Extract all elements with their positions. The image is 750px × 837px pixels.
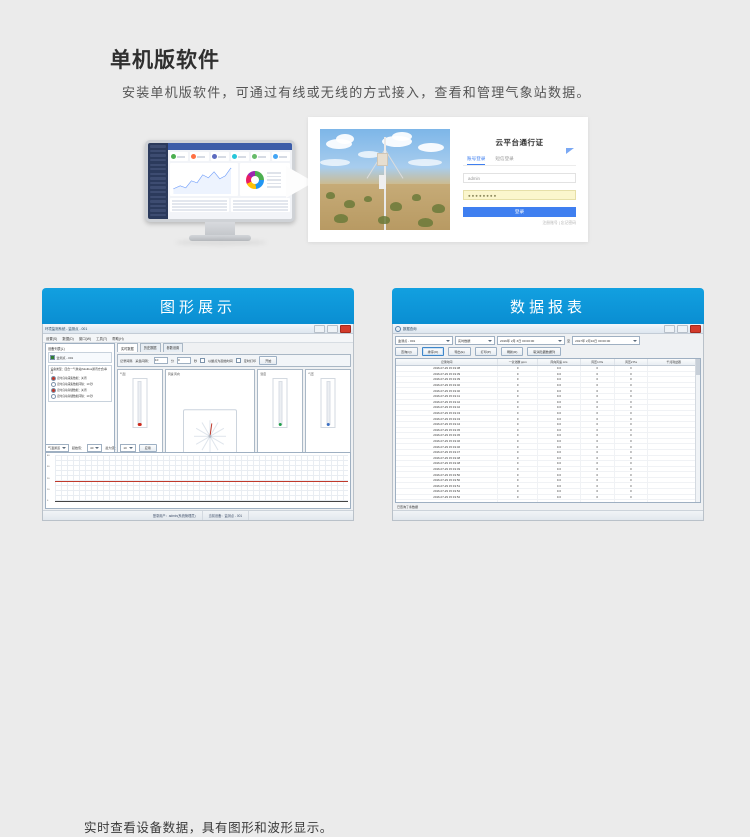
chevron-down-icon [488, 340, 492, 342]
table-cell: 0 [581, 467, 615, 472]
table-cell: 0 [581, 483, 615, 488]
spinner-icon [633, 340, 637, 342]
table-cell: 0 [615, 439, 649, 444]
table-cell [648, 467, 700, 472]
table-cell: 0 [498, 489, 538, 494]
print-button[interactable]: 打印(P) [475, 347, 497, 356]
table-cell: 0 [615, 366, 649, 371]
spinner-icon [558, 340, 562, 342]
monitor-bezel [145, 140, 295, 222]
search-icon [395, 326, 401, 332]
table-cell [648, 388, 700, 393]
waveform-series [55, 481, 348, 482]
monitor-shadow [175, 240, 267, 245]
statusbar: 登录用户：admin(系统管理员) 当前设备：监测点 - 001 [43, 510, 353, 520]
table-cell: 0 [581, 500, 615, 503]
table-cell: 2016-07-29 15:19:40 [396, 388, 498, 393]
station-select[interactable]: 监测点 - 001 [395, 336, 453, 345]
unhide-columns-button[interactable]: 取消隐藏数据列 [527, 347, 561, 356]
table-cell: 0 [615, 478, 649, 483]
menu-item-window[interactable]: 窗口(W) [79, 336, 91, 341]
window-title: 数据查询 [403, 326, 662, 331]
table-cell [648, 366, 700, 371]
table-cell [648, 439, 700, 444]
table-cell: 0 [615, 500, 649, 503]
table-cell: 0.0 [538, 439, 581, 444]
table-cell [648, 478, 700, 483]
table-cell: 0 [581, 383, 615, 388]
page-subtitle: 安装单机版软件，可通过有线或无线的方式接入，查看和管理气象站数据。 [122, 82, 591, 101]
table-cell: 2016-07-29 15:19:48 [396, 461, 498, 466]
sort-button[interactable]: 排序(O) [422, 347, 445, 356]
table-cell: 0 [581, 489, 615, 494]
table-cell [648, 444, 700, 449]
report-footer: 已查询了条数据 [395, 505, 701, 509]
table-cell: 0 [498, 444, 538, 449]
checkbox-icon[interactable] [200, 358, 205, 363]
table-cell: 0 [581, 461, 615, 466]
login-form: 云平台通行证 账号登录 短信登录 admin ●●●●●●●● 登录 注册账号 … [463, 131, 576, 228]
table-cell: 0 [498, 467, 538, 472]
table-cell: 0 [615, 461, 649, 466]
table-cell [648, 461, 700, 466]
chevron-down-icon [129, 447, 133, 449]
table-widget [231, 198, 290, 212]
option-label: 定时自动采集数据：关闭 [57, 376, 87, 380]
table-cell: 2016-07-29 15:19:43 [396, 411, 498, 416]
table-cell: 0.0 [538, 388, 581, 393]
waveform-grid [55, 455, 348, 502]
table-cell: 0 [615, 405, 649, 410]
date-joiner: 至 [567, 338, 570, 343]
sensor-box [377, 153, 388, 166]
start-value: 40 [90, 446, 93, 450]
table-cell: 0 [615, 411, 649, 416]
table-cell [648, 428, 700, 433]
table-cell [648, 416, 700, 421]
window-titlebar: 数据查询 [393, 324, 703, 334]
table-cell [648, 372, 700, 377]
option-label: 定时自动采集数据间隔：10 秒 [57, 382, 93, 386]
table-cell: 0 [615, 388, 649, 393]
table-cell: 0 [498, 411, 538, 416]
option-label: 定时自动存储数据间隔：10 秒 [57, 394, 93, 398]
gauge-label: 气压 [308, 372, 348, 376]
dashboard-bottom-row [170, 198, 290, 212]
table-cell: 0 [615, 467, 649, 472]
radio-icon [51, 382, 56, 387]
table-cell: 0 [581, 439, 615, 444]
monitor-screen [148, 143, 292, 219]
page-root: 单机版软件 安装单机版软件，可通过有线或无线的方式接入，查看和管理气象站数据。 [0, 0, 750, 572]
table-cell: 0 [498, 478, 538, 483]
table-cell: 0 [615, 377, 649, 382]
wave-controls: 气温通道 起始值： 40 最大值： 10 应用 [45, 444, 351, 452]
datatype-select[interactable]: 实时数据 [455, 336, 495, 345]
table-cell [648, 422, 700, 427]
minimize-button[interactable] [314, 325, 325, 333]
table-cell: 2016-07-29 15:19:47 [396, 450, 498, 455]
table-scrollbar[interactable] [695, 359, 700, 502]
device-tree: 监测点 - 001 [48, 352, 112, 363]
line-chart-widget [170, 163, 238, 196]
table-cell: 2016-07-29 15:19:48 [396, 456, 498, 461]
table-cell: 2016-07-29 15:19:38 [396, 366, 498, 371]
option-row[interactable]: 定时自动采集数据：关闭 [51, 376, 110, 381]
table-cell: 0.0 [538, 394, 581, 399]
username-field[interactable]: admin [463, 173, 576, 183]
window-titlebar: 环境监测系统 - 监测点 - 001 [43, 324, 353, 334]
option-row[interactable]: 定时自动采集数据间隔：10 秒 [51, 382, 110, 387]
password-field[interactable]: ●●●●●●●● [463, 190, 576, 200]
login-footer-links[interactable]: 注册账号 | 忘记密码 [463, 221, 576, 226]
login-tabs: 账号登录 短信登录 [467, 156, 576, 165]
caption-graphics: 实时查看设备数据，具有图形和波形显示。 [84, 820, 404, 837]
stat-card [231, 152, 249, 161]
graphics-screenshot: 环境监测系统 - 监测点 - 001 设置(S) 数据(D) 窗口(W) 工具(… [42, 324, 354, 521]
channel-select-value: 气温通道 [48, 446, 60, 450]
table-cell [648, 394, 700, 399]
table-cell: 2016-07-29 15:19:41 [396, 394, 498, 399]
tab-history-data[interactable]: 历史数据 [140, 343, 161, 352]
photo-login-card: 云平台通行证 账号登录 短信登录 admin ●●●●●●●● 登录 注册账号 … [308, 117, 588, 242]
chevron-down-icon [95, 447, 99, 449]
option-label: 定时自动存储数据：关闭 [57, 388, 87, 392]
table-cell [648, 377, 700, 382]
action-buttons: 查询(Q) 排序(O) 导出(E) 打印(P) 刷新(R) 取消隐藏数据列 [395, 347, 701, 356]
stat-card [251, 152, 269, 161]
panel-graphics: 图形展示 环境监测系统 - 监测点 - 001 设置(S) 数据(D) 窗口(W… [42, 288, 354, 521]
close-button[interactable] [690, 325, 701, 333]
divider [463, 165, 576, 166]
report-body: 监测点 - 001 实时数据 2016年 2月 3日 00:00:00 至 20… [393, 334, 703, 511]
menu-item-settings[interactable]: 设置(S) [46, 336, 57, 341]
station-select-value: 监测点 - 001 [398, 338, 444, 343]
monitor-neck [205, 222, 235, 236]
table-cell: 2016-07-29 15:19:45 [396, 428, 498, 433]
table-cell: 0.0 [538, 433, 581, 438]
datatype-select-value: 实时数据 [458, 338, 486, 343]
table-cell: 0 [615, 450, 649, 455]
table-cell: 0 [581, 444, 615, 449]
table-cell: 0 [581, 416, 615, 421]
table-cell: 0 [498, 377, 538, 382]
table-cell: 2016-07-29 15:19:44 [396, 422, 498, 427]
table-cell: 0 [615, 483, 649, 488]
page-title: 单机版软件 [110, 44, 220, 74]
panel-report: 数据报表 数据查询 监测点 - 001 实时数据 [392, 288, 704, 521]
table-cell: 2016-07-29 15:19:39 [396, 377, 498, 382]
table-cell: 0.0 [538, 489, 581, 494]
table-cell: 0 [498, 366, 538, 371]
table-cell: 0 [615, 428, 649, 433]
thermometer-icon [132, 378, 147, 428]
status-user: 登录用户：admin(系统管理员) [147, 511, 203, 520]
start-value-label: 起始值： [72, 446, 84, 450]
stat-card [211, 152, 229, 161]
second-input[interactable]: 0 [177, 357, 191, 364]
table-cell: 0.0 [538, 495, 581, 500]
chart-legend [267, 172, 281, 190]
table-cell: 2016-07-29 15:19:39 [396, 372, 498, 377]
waveform-x-axis [55, 501, 348, 502]
column-header[interactable]: 千兆利益器 [648, 359, 700, 365]
table-cell: 0 [498, 383, 538, 388]
kite-icon [566, 148, 574, 154]
dashboard-body [168, 150, 292, 219]
stat-card [170, 152, 188, 161]
table-cell: 2016-07-29 15:19:46 [396, 444, 498, 449]
table-cell: 0 [615, 456, 649, 461]
apply-button[interactable]: 应用 [139, 444, 157, 452]
table-cell: 0 [615, 422, 649, 427]
table-cell: 0.0 [538, 500, 581, 503]
table-cell: 2016-07-29 15:19:51 [396, 483, 498, 488]
table-cell: 2016-07-29 15:19:42 [396, 405, 498, 410]
table-cell: 0 [581, 422, 615, 427]
table-cell [648, 500, 700, 503]
start-value-select[interactable]: 40 [87, 444, 102, 452]
table-cell: 0 [498, 400, 538, 405]
report-table[interactable]: 记录时间 一氧化碳 ppm 风向风速 m/s 风压1 Pa 风压2 Pa 千兆利… [395, 358, 701, 503]
radio-icon [51, 394, 56, 399]
table-cell: 0 [615, 433, 649, 438]
date-from-input[interactable]: 2016年 2月 3日 00:00:00 [497, 336, 565, 345]
pressure-gauge-icon [321, 378, 336, 428]
date-to-input[interactable]: 2017年 2月10日 00:00:00 [572, 336, 640, 345]
tab-parameter-settings[interactable]: 参数设置 [163, 343, 184, 352]
table-row[interactable]: 2016-07-29 15:19:5300.000 [396, 500, 700, 503]
interval-label: 采集间隔： [135, 358, 150, 363]
column-header[interactable]: 风向风速 m/s [538, 359, 581, 365]
table-cell: 2016-07-29 15:19:50 [396, 472, 498, 477]
date-from-value: 2016年 2月 3日 00:00:00 [500, 338, 556, 343]
table-cell: 2016-07-29 15:19:50 [396, 478, 498, 483]
end-value-label: 最大值： [105, 446, 117, 450]
minute-unit: 分 [171, 358, 174, 363]
table-cell [648, 405, 700, 410]
report-screenshot: 数据查询 监测点 - 001 实时数据 2016年 2月 3日 [392, 324, 704, 521]
gauge-label: 风速 风向 [168, 372, 253, 376]
table-cell: 0 [498, 416, 538, 421]
table-cell [648, 400, 700, 405]
table-cell: 0 [498, 388, 538, 393]
column-header[interactable]: 一氧化碳 ppm [498, 359, 538, 365]
interval-input[interactable]: 10 [154, 357, 168, 364]
table-cell: 0 [581, 428, 615, 433]
table-header: 记录时间 一氧化碳 ppm 风向风速 m/s 风压1 Pa 风压2 Pa 千兆利… [396, 359, 700, 366]
line-chart-icon [170, 163, 238, 196]
list-widget [170, 198, 229, 212]
tab-realtime-data[interactable]: 实时数据 [117, 343, 138, 352]
table-cell: 0 [581, 400, 615, 405]
table-cell: 0 [581, 433, 615, 438]
menu-item-help[interactable]: 帮助(H) [112, 336, 124, 341]
monitor-illustration [145, 140, 295, 245]
start-button[interactable]: 开始 [259, 356, 277, 365]
table-cell: 0.0 [538, 422, 581, 427]
login-title: 云平台通行证 [463, 137, 576, 148]
chevron-down-icon [446, 340, 450, 342]
radio-icon [51, 376, 56, 381]
table-cell: 0 [615, 416, 649, 421]
login-button[interactable]: 登录 [463, 207, 576, 217]
tree-node[interactable]: 监测点 - 001 [50, 355, 110, 360]
table-cell [648, 483, 700, 488]
table-cell: 0 [581, 366, 615, 371]
second-unit: 秒 [194, 358, 197, 363]
table-cell: 0 [498, 472, 538, 477]
table-cell: 0.0 [538, 383, 581, 388]
checkbox-icon[interactable] [236, 358, 241, 363]
table-cell: 0 [498, 405, 538, 410]
filter-toolbar: 监测点 - 001 实时数据 2016年 2月 3日 00:00:00 至 20… [395, 336, 701, 345]
table-cell: 0 [498, 422, 538, 427]
minimize-button[interactable] [664, 325, 675, 333]
table-cell [648, 383, 700, 388]
record-interval-label: 记录间隔 [120, 358, 132, 363]
record-toolbar: 记录间隔 采集间隔： 10 分 0 秒 以整点为起始时间 定时打印 开始 [117, 354, 351, 367]
table-cell: 0.0 [538, 405, 581, 410]
table-cell: 2016-07-29 15:19:49 [396, 467, 498, 472]
table-cell: 0 [615, 383, 649, 388]
chevron-down-icon [62, 447, 66, 449]
export-button[interactable]: 导出(E) [448, 347, 470, 356]
table-cell: 0.0 [538, 478, 581, 483]
table-cell: 0.0 [538, 456, 581, 461]
table-cell: 0.0 [538, 372, 581, 377]
table-cell: 0 [498, 483, 538, 488]
waveform-y-labels: 403020100 [47, 455, 55, 502]
weather-station-photo [320, 129, 450, 230]
table-cell: 2016-07-29 15:19:40 [396, 383, 498, 388]
table-cell: 0 [615, 372, 649, 377]
statusbar [393, 510, 703, 520]
table-cell: 0 [581, 456, 615, 461]
menu-item-data[interactable]: 数据(D) [62, 336, 74, 341]
table-cell: 0 [581, 478, 615, 483]
checkbox-label-1: 以整点为起始时间 [208, 358, 233, 363]
table-cell: 0 [498, 394, 538, 399]
device-list-label: 设备列表(L) [48, 346, 112, 351]
dashboard-topbar [168, 143, 292, 150]
donut-chart-icon [246, 171, 264, 189]
option-row[interactable]: 定时自动存储数据：关闭 [51, 388, 110, 393]
table-cell: 0.0 [538, 472, 581, 477]
table-cell: 0 [581, 394, 615, 399]
gauge-label: 湿度 [260, 372, 300, 376]
table-cell: 0 [615, 444, 649, 449]
table-cell: 0 [498, 439, 538, 444]
channel-select[interactable]: 气温通道 [45, 444, 69, 452]
column-header[interactable]: 风压2 Pa [615, 359, 649, 365]
table-cell: 0 [498, 372, 538, 377]
table-cell: 0 [581, 450, 615, 455]
maximize-button[interactable] [327, 325, 338, 333]
table-cell: 0 [581, 405, 615, 410]
option-row[interactable]: 定时自动存储数据间隔：10 秒 [51, 394, 110, 399]
sensor-panel [379, 175, 386, 189]
end-value-select[interactable]: 10 [120, 444, 135, 452]
table-cell: 0 [498, 428, 538, 433]
table-cell: 0.0 [538, 366, 581, 371]
table-cell: 0 [498, 433, 538, 438]
table-cell: 2016-07-29 15:19:42 [396, 400, 498, 405]
table-cell: 0 [581, 388, 615, 393]
waveform-chart: 403020100 [45, 452, 351, 509]
dashboard-sidebar [148, 143, 168, 219]
radio-icon [51, 388, 56, 393]
table-cell [648, 411, 700, 416]
stat-card-row [170, 152, 290, 161]
table-cell: 0 [615, 472, 649, 477]
table-cell: 0 [615, 400, 649, 405]
table-cell: 0 [581, 495, 615, 500]
donut-chart-widget [240, 163, 290, 196]
tree-node-label: 监测点 - 001 [57, 356, 74, 360]
table-body: 2016-07-29 15:19:3800.0002016-07-29 15:1… [396, 366, 700, 503]
table-cell: 0 [581, 377, 615, 382]
close-button[interactable] [340, 325, 351, 333]
table-cell: 2016-07-29 15:19:52 [396, 489, 498, 494]
table-cell: 0.0 [538, 483, 581, 488]
checkbox-label-2: 定时打印 [244, 358, 256, 363]
table-cell: 0 [498, 461, 538, 466]
table-cell: 2016-07-29 15:19:46 [396, 439, 498, 444]
tab-sms-login[interactable]: 短信登录 [495, 156, 513, 165]
refresh-button[interactable]: 刷新(R) [501, 347, 523, 356]
device-desc: 设备类型：四合一气象站(Modbus通讯方式)串口 [51, 368, 110, 375]
table-cell: 0.0 [538, 400, 581, 405]
humidity-gauge-icon [273, 378, 288, 428]
table-cell: 0 [498, 450, 538, 455]
maximize-button[interactable] [677, 325, 688, 333]
column-header[interactable]: 风压1 Pa [581, 359, 615, 365]
column-header[interactable]: 记录时间 [396, 359, 498, 365]
table-cell: 0 [498, 495, 538, 500]
table-cell: 2016-07-29 15:19:45 [396, 433, 498, 438]
table-cell: 0.0 [538, 428, 581, 433]
table-cell: 0.0 [538, 450, 581, 455]
table-cell: 0 [498, 456, 538, 461]
table-cell: 0.0 [538, 377, 581, 382]
table-cell: 0.0 [538, 411, 581, 416]
table-cell: 0 [615, 394, 649, 399]
table-cell: 0 [615, 495, 649, 500]
end-value: 10 [123, 446, 126, 450]
panel-graphics-title: 图形展示 [42, 288, 354, 324]
table-cell [648, 456, 700, 461]
status-device: 当前设备：监测点 - 001 [203, 511, 250, 520]
stat-card [190, 152, 208, 161]
panel-report-title: 数据报表 [392, 288, 704, 324]
table-cell: 2016-07-29 15:19:43 [396, 416, 498, 421]
device-info-box: 设备类型：四合一气象站(Modbus通讯方式)串口 定时自动采集数据：关闭 定时… [48, 365, 112, 402]
stat-card [272, 152, 290, 161]
table-cell: 0.0 [538, 444, 581, 449]
table-cell [648, 472, 700, 477]
query-button[interactable]: 查询(Q) [395, 347, 418, 356]
table-cell: 0 [581, 472, 615, 477]
gauge-label: 气温 [120, 372, 160, 376]
table-cell [648, 433, 700, 438]
node-expand-icon [50, 355, 55, 360]
table-cell: 2016-07-29 15:19:53 [396, 500, 498, 503]
menu-item-tools[interactable]: 工具(T) [96, 336, 107, 341]
date-to-value: 2017年 2月10日 00:00:00 [575, 338, 631, 343]
tab-account-login[interactable]: 账号登录 [467, 156, 485, 165]
table-cell [648, 489, 700, 494]
